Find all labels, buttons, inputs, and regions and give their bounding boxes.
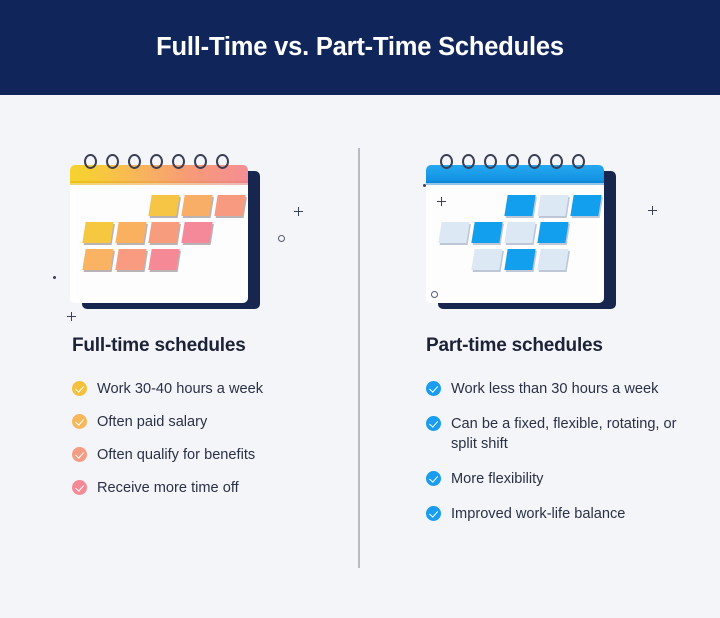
sparkle-ring-icon xyxy=(431,291,438,298)
calendar-ring xyxy=(572,154,585,169)
calendar-illustration-warm-wrap xyxy=(0,145,358,330)
part-time-heading: Part-time schedules xyxy=(426,335,698,357)
list-item: Receive more time off xyxy=(72,478,340,498)
list-item: Work 30-40 hours a week xyxy=(72,379,340,399)
calendar-day-block xyxy=(504,195,535,216)
calendar-day-block xyxy=(504,222,535,243)
calendar-ring xyxy=(150,154,163,169)
calendar-day-block xyxy=(504,249,535,270)
calendar-ring xyxy=(506,154,519,169)
check-circle-icon xyxy=(426,381,441,396)
part-time-bullet-text: Improved work-life balance xyxy=(451,504,625,524)
full-time-bullet-text: Receive more time off xyxy=(97,478,239,498)
calendar-day-block xyxy=(537,249,568,270)
list-item: Can be a fixed, flexible, rotating, or s… xyxy=(426,414,698,454)
calendar-day-block xyxy=(181,195,212,216)
page-title: Full-Time vs. Part-Time Schedules xyxy=(156,33,564,62)
full-time-bullet-text: Often paid salary xyxy=(97,412,207,432)
calendar-ring xyxy=(440,154,453,169)
calendar-day-block xyxy=(438,222,469,243)
full-time-bullet-list: Work 30-40 hours a weekOften paid salary… xyxy=(72,379,340,498)
header-banner: Full-Time vs. Part-Time Schedules xyxy=(0,0,720,95)
full-time-heading: Full-time schedules xyxy=(72,335,340,357)
calendar-day-block xyxy=(471,222,502,243)
list-item: Often paid salary xyxy=(72,412,340,432)
check-circle-icon xyxy=(72,414,87,429)
check-circle-icon xyxy=(426,471,441,486)
infographic-root: Full-Time vs. Part-Time Schedules F xyxy=(0,0,720,618)
calendar-ring xyxy=(484,154,497,169)
calendar-header-underline xyxy=(70,181,248,185)
content-area: Full-time schedules Work 30-40 hours a w… xyxy=(0,95,720,618)
full-time-text-block: Full-time schedules Work 30-40 hours a w… xyxy=(0,335,358,511)
calendar-day-block xyxy=(148,195,179,216)
calendar-day-block xyxy=(82,222,113,243)
sparkle-plus-icon xyxy=(437,197,446,206)
check-circle-icon xyxy=(72,480,87,495)
part-time-text-block: Part-time schedules Work less than 30 ho… xyxy=(358,335,720,539)
list-item: Often qualify for benefits xyxy=(72,445,340,465)
calendar-header-underline xyxy=(426,181,604,185)
calendar-ring xyxy=(194,154,207,169)
calendar-day-block xyxy=(115,249,146,270)
list-item: Improved work-life balance xyxy=(426,504,698,524)
calendar-illustration-cool-wrap xyxy=(358,145,720,330)
sparkle-plus-icon xyxy=(67,312,76,321)
calendar-day-block xyxy=(115,222,146,243)
calendar-day-block xyxy=(214,195,245,216)
list-item: More flexibility xyxy=(426,469,698,489)
calendar-ring xyxy=(550,154,563,169)
calendar-day-block xyxy=(537,222,568,243)
list-item: Work less than 30 hours a week xyxy=(426,379,698,399)
calendar-ring xyxy=(462,154,475,169)
check-circle-icon xyxy=(72,381,87,396)
calendar-ring xyxy=(216,154,229,169)
part-time-bullet-text: Work less than 30 hours a week xyxy=(451,379,658,399)
calendar-ring xyxy=(172,154,185,169)
calendar-day-block xyxy=(570,195,601,216)
calendar-day-block xyxy=(148,222,179,243)
check-circle-icon xyxy=(426,506,441,521)
sparkle-plus-icon xyxy=(294,207,303,216)
calendar-day-block xyxy=(148,249,179,270)
sparkle-ring-icon xyxy=(278,235,285,242)
part-time-bullet-text: Can be a fixed, flexible, rotating, or s… xyxy=(451,414,698,454)
calendar-day-block xyxy=(537,195,568,216)
check-circle-icon xyxy=(72,447,87,462)
calendar-ring xyxy=(84,154,97,169)
calendar-ring xyxy=(128,154,141,169)
calendar-day-block xyxy=(82,249,113,270)
part-time-bullet-list: Work less than 30 hours a weekCan be a f… xyxy=(426,379,698,524)
sparkle-plus-icon xyxy=(648,206,657,215)
full-time-bullet-text: Often qualify for benefits xyxy=(97,445,255,465)
check-circle-icon xyxy=(426,416,441,431)
full-time-bullet-text: Work 30-40 hours a week xyxy=(97,379,263,399)
part-time-bullet-text: More flexibility xyxy=(451,469,543,489)
calendar-day-block xyxy=(181,222,212,243)
calendar-ring xyxy=(106,154,119,169)
calendar-day-block xyxy=(471,249,502,270)
calendar-ring xyxy=(528,154,541,169)
